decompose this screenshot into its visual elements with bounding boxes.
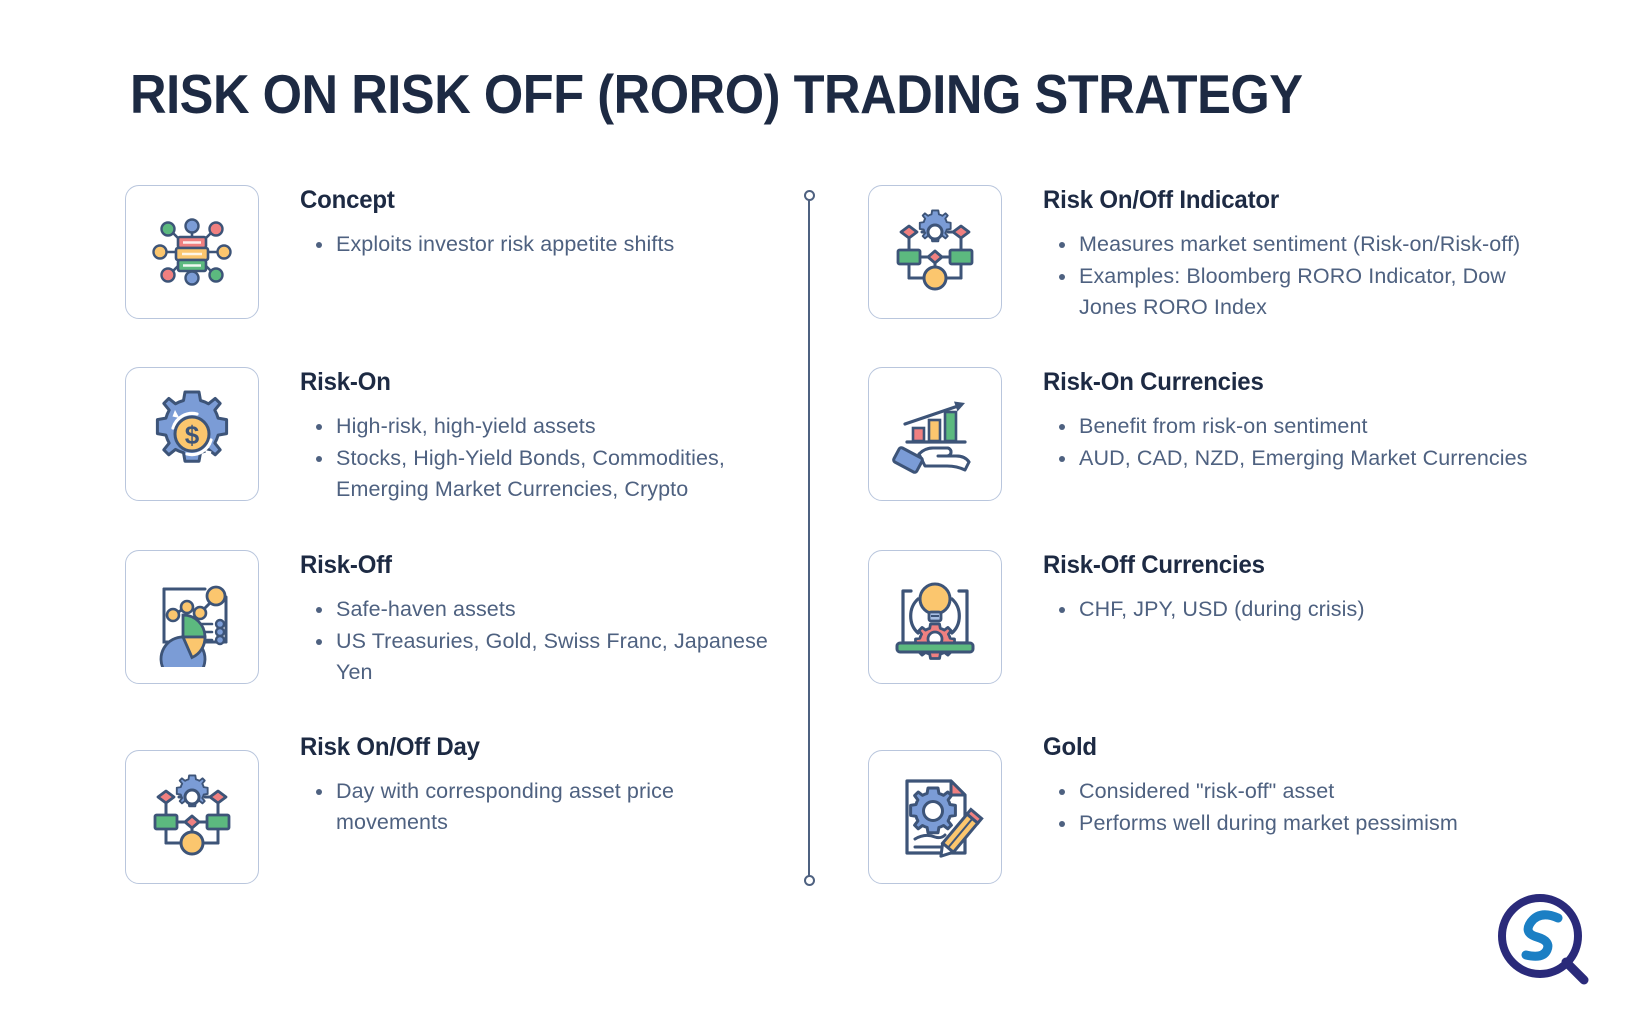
icon-box-document-gear-pencil	[868, 750, 1002, 884]
list-item: Measures market sentiment (Risk-on/Risk-…	[1043, 229, 1528, 260]
workflow-gear-icon	[142, 767, 242, 867]
list-item: Exploits investor risk appetite shifts	[300, 229, 785, 260]
timeline-line	[808, 196, 810, 880]
icon-box-workflow-gear-right	[868, 185, 1002, 319]
list-item: Considered "risk-off" asset	[1043, 776, 1528, 807]
hand-bar-chart-icon	[885, 384, 985, 484]
list-item: High-risk, high-yield assets	[300, 411, 785, 442]
bullet-list: High-risk, high-yield assets Stocks, Hig…	[300, 411, 785, 505]
bullet-list: Measures market sentiment (Risk-on/Risk-…	[1043, 229, 1528, 323]
icon-box-network-nodes	[125, 185, 259, 319]
list-item: Benefit from risk-on sentiment	[1043, 411, 1528, 442]
entry-text-risk-off-currencies: Risk-Off Currencies CHF, JPY, USD (durin…	[1043, 550, 1528, 626]
page-title: RISK ON RISK OFF (RORO) TRADING STRATEGY	[130, 62, 1303, 126]
list-item: AUD, CAD, NZD, Emerging Market Currencie…	[1043, 443, 1528, 474]
entry-heading: Risk On/Off Day	[300, 732, 766, 762]
gear-dollar-icon: $	[142, 384, 242, 484]
bullet-list: Benefit from risk-on sentiment AUD, CAD,…	[1043, 411, 1528, 474]
entry-text-risk-off: Risk-Off Safe-haven assets US Treasuries…	[300, 550, 785, 689]
svg-text:$: $	[185, 420, 200, 450]
bullet-list: Exploits investor risk appetite shifts	[300, 229, 785, 260]
document-gear-pencil-icon	[885, 767, 985, 867]
bullet-list: CHF, JPY, USD (during crisis)	[1043, 594, 1528, 625]
icon-box-laptop-bulb-gear	[868, 550, 1002, 684]
list-item: Performs well during market pessimism	[1043, 808, 1528, 839]
list-item: CHF, JPY, USD (during crisis)	[1043, 594, 1528, 625]
list-item: Stocks, High-Yield Bonds, Commodities, E…	[300, 443, 785, 505]
entry-text-risk-indicator: Risk On/Off Indicator Measures market se…	[1043, 185, 1528, 324]
entry-text-concept: Concept Exploits investor risk appetite …	[300, 185, 785, 261]
timeline-dot-top	[804, 190, 815, 201]
entry-text-risk-on: Risk-On High-risk, high-yield assets Sto…	[300, 367, 785, 506]
brand-logo	[1492, 888, 1592, 988]
timeline-dot-bottom	[804, 875, 815, 886]
entry-text-gold: Gold Considered "risk-off" asset Perform…	[1043, 732, 1528, 840]
workflow-gear-icon	[885, 202, 985, 302]
icon-box-analytics-dashboard	[125, 550, 259, 684]
entry-heading: Risk-On Currencies	[1043, 367, 1509, 397]
laptop-bulb-gear-icon	[885, 567, 985, 667]
list-item: Examples: Bloomberg RORO Indicator, Dow …	[1043, 261, 1528, 323]
entry-text-risk-on-currencies: Risk-On Currencies Benefit from risk-on …	[1043, 367, 1528, 475]
entry-heading: Risk-On	[300, 367, 766, 397]
timeline-divider	[807, 190, 811, 886]
entry-heading: Risk-Off Currencies	[1043, 550, 1509, 580]
brand-logo-icon	[1492, 888, 1592, 988]
infographic-page: RISK ON RISK OFF (RORO) TRADING STRATEGY	[0, 0, 1640, 1030]
entry-text-risk-on-off-day: Risk On/Off Day Day with corresponding a…	[300, 732, 785, 839]
entry-heading: Risk On/Off Indicator	[1043, 185, 1509, 215]
list-item: Safe-haven assets	[300, 594, 785, 625]
network-nodes-icon	[142, 202, 242, 302]
bullet-list: Safe-haven assets US Treasuries, Gold, S…	[300, 594, 785, 688]
entry-heading: Risk-Off	[300, 550, 766, 580]
entry-heading: Gold	[1043, 732, 1509, 762]
entry-heading: Concept	[300, 185, 766, 215]
icon-box-gear-dollar: $	[125, 367, 259, 501]
icon-box-workflow-gear-left	[125, 750, 259, 884]
analytics-dashboard-icon	[142, 567, 242, 667]
icon-box-hand-bar-chart	[868, 367, 1002, 501]
list-item: US Treasuries, Gold, Swiss Franc, Japane…	[300, 626, 785, 688]
bullet-list: Day with corresponding asset price movem…	[300, 776, 785, 838]
bullet-list: Considered "risk-off" asset Performs wel…	[1043, 776, 1528, 839]
list-item: Day with corresponding asset price movem…	[300, 776, 785, 838]
